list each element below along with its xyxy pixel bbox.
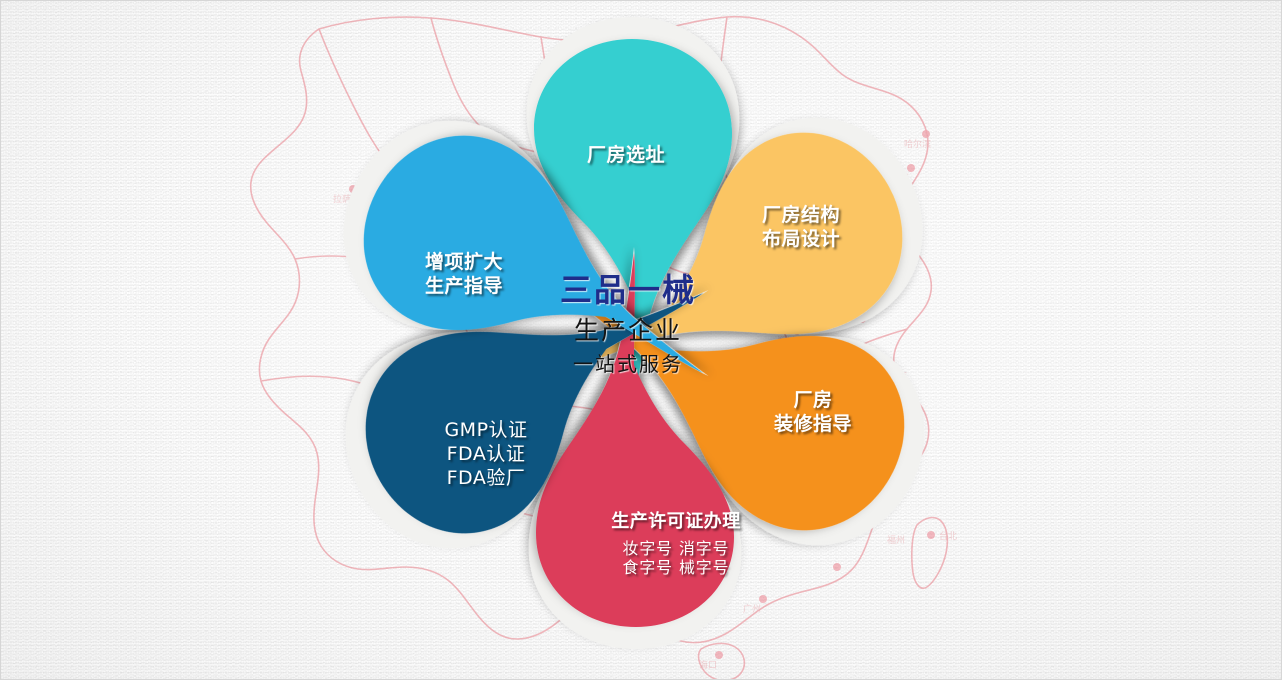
service-wheel bbox=[284, 0, 984, 680]
infographic-canvas: 哈尔滨 长春 沈阳 北京 济南 郑州 南京 上海 武汉 杭州 长沙 南昌 福州 … bbox=[0, 0, 1282, 680]
